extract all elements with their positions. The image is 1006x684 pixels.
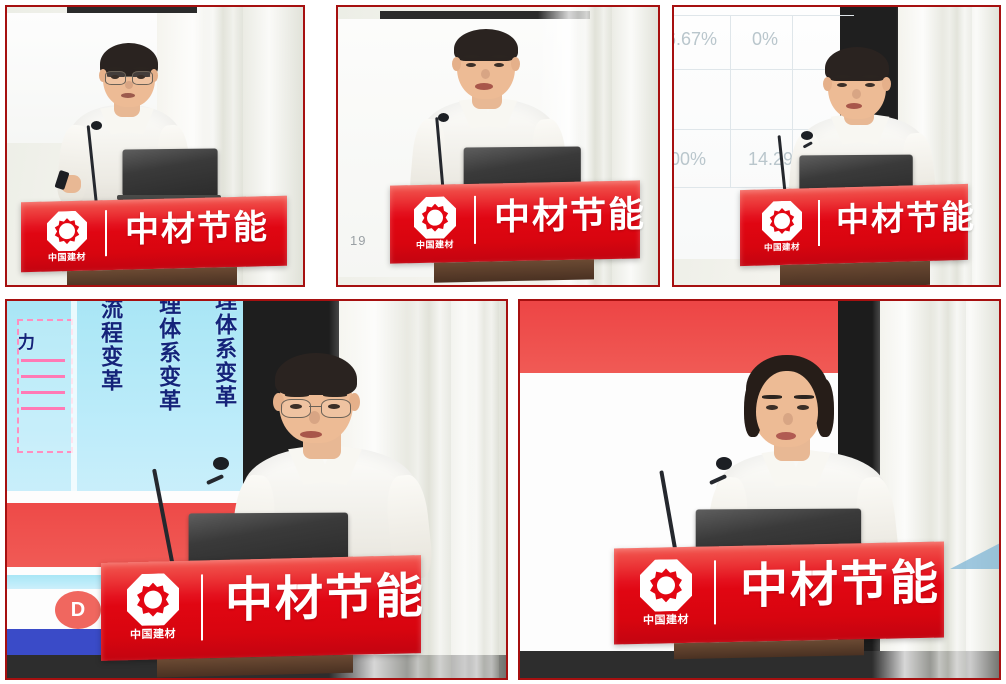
podium-brand-name: 中材节能 [494,196,646,235]
photo-speaker-3: 6.67% 0% 100% 14.29% [672,5,1001,287]
logo-subtext: 中国建材 [41,252,93,262]
photo-collage: 中国建材 中材节能 19 [0,0,1006,684]
podium-brand-name: 中材节能 [836,200,976,237]
photo-speaker-4: 力 流程变革 理体系变革 理体系变革 D [5,299,508,680]
photo-speaker-1: 中国建材 中材节能 [5,5,305,287]
photo-speaker-5: 中国建材 中材节能 [518,299,1001,680]
podium-brand-name: 中材节能 [225,573,425,626]
logo-subtext: 中国建材 [121,629,185,642]
logo-subtext: 中国建材 [634,615,698,627]
logo-subtext: 中国建材 [757,242,807,252]
photo-speaker-2: 19 [336,5,660,287]
podium-brand-name: 中材节能 [740,560,940,612]
podium-brand-name: 中材节能 [125,210,269,248]
logo-subtext: 中国建材 [409,240,461,250]
